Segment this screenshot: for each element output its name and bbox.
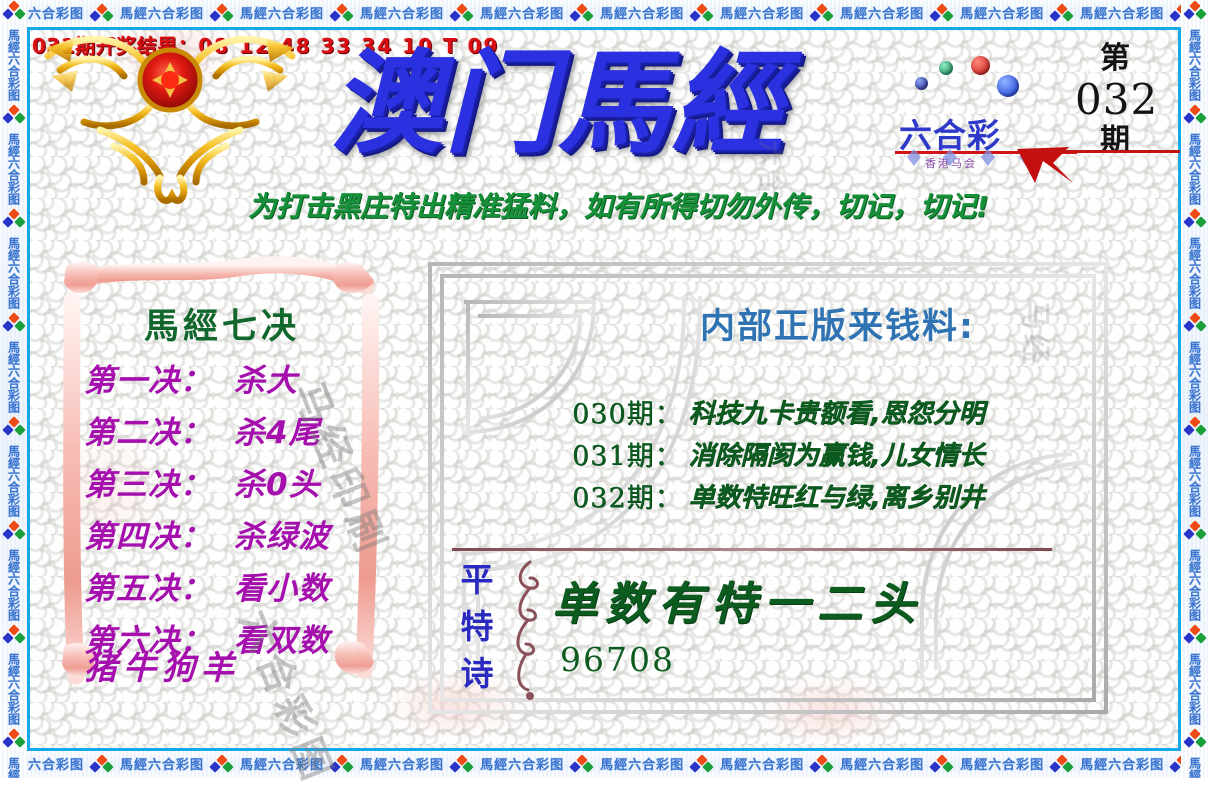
left-panel-row: 第四决：杀绿波: [84, 508, 374, 558]
border-repeat-text: 馬經六合彩图: [8, 341, 20, 413]
diamond-ornament-icon: [1188, 2, 1202, 24]
border-repeat-text: 馬經六合彩图: [840, 8, 924, 21]
issue-block: 第 032 期: [1075, 42, 1155, 158]
lottery-logo: 六合彩 香港马会: [895, 55, 1080, 175]
issue-underline: [1030, 150, 1180, 153]
border-repeat-text: 馬經六合彩图: [360, 759, 444, 772]
border-bottom-run: 馬經六合彩图馬經六合彩图馬經六合彩图馬經六合彩图馬經六合彩图馬經六合彩图馬經六合…: [0, 759, 1208, 772]
poem-number: 96708: [560, 640, 860, 679]
diamond-ornament-icon: [931, 9, 953, 21]
border-right: 馬經六合彩图馬經六合彩图馬經六合彩图馬經六合彩图馬經六合彩图馬經六合彩图馬經六合…: [1181, 0, 1208, 778]
prediction-period: 032期：: [572, 476, 683, 515]
border-repeat-text: 馬經六合彩图: [480, 8, 564, 21]
swirl-ornament: [508, 558, 548, 703]
left-panel-row: 第二决：杀4尾: [84, 404, 374, 454]
border-repeat-text: 馬經六合彩图: [360, 8, 444, 21]
left-panel-row: 第三决：杀0头: [84, 456, 374, 506]
border-repeat-text: 馬經六合彩图: [1189, 757, 1201, 779]
left-panel-row-label: 第四决：: [84, 511, 234, 556]
diamond-ornament-icon: [7, 2, 21, 24]
border-repeat-text: 馬經六合彩图: [1189, 341, 1201, 413]
prediction-period: 031期：: [572, 434, 683, 473]
prediction-row: 031期：消除隔阂为赢钱,儿女情长: [572, 432, 1132, 474]
diamond-ornament-icon: [931, 760, 953, 772]
diamond-ornament-icon: [691, 9, 713, 21]
poem-divider: [452, 548, 1052, 551]
border-repeat-text: 馬經六合彩图: [1189, 445, 1201, 517]
border-repeat-text: 馬經六合彩图: [1189, 29, 1201, 101]
left-panel-title: 馬經七决: [92, 298, 352, 349]
border-repeat-text: 馬經六合彩图: [720, 759, 804, 772]
left-panel-row-value: 看小数: [234, 563, 330, 608]
border-left: 馬經六合彩图馬經六合彩图馬經六合彩图馬經六合彩图馬經六合彩图馬經六合彩图馬經六合…: [0, 0, 27, 778]
border-right-run: 馬經六合彩图馬經六合彩图馬經六合彩图馬經六合彩图馬經六合彩图馬經六合彩图馬經六合…: [1181, 0, 1208, 778]
right-panel-title: 内部正版来钱料:: [700, 298, 1080, 349]
page-title: 澳门馬經: [330, 44, 910, 164]
border-repeat-text: 馬經六合彩图: [1080, 8, 1164, 21]
poem-line: 单数有特一二头: [552, 568, 1072, 630]
left-panel-row-label: 第一决：: [84, 355, 234, 400]
left-panel-row: 第五决：看小数: [84, 560, 374, 610]
border-repeat-text: 馬經六合彩图: [1189, 653, 1201, 725]
diamond-ornament-icon: [571, 9, 593, 21]
border-repeat-text: 馬經六合彩图: [960, 8, 1044, 21]
left-panel-row-label: 第三决：: [84, 459, 234, 504]
slogan: 为打击黑庄特出精准猛料，如有所得切勿外传，切记，切记!: [248, 185, 968, 225]
diamond-ornament-icon: [91, 760, 113, 772]
diamond-ornament-icon: [691, 760, 713, 772]
poster-root: 馬經六合彩图馬經六合彩图馬經六合彩图馬經六合彩图馬經六合彩图馬經六合彩图馬經六合…: [0, 0, 1208, 778]
diamond-ornament-icon: [1051, 760, 1073, 772]
border-repeat-text: 馬經六合彩图: [840, 759, 924, 772]
border-bottom: 馬經六合彩图馬經六合彩图馬經六合彩图馬經六合彩图馬經六合彩图馬經六合彩图馬經六合…: [0, 751, 1208, 778]
border-repeat-text: 馬經六合彩图: [960, 759, 1044, 772]
border-repeat-text: 馬經六合彩图: [1189, 237, 1201, 309]
left-panel-row-value: 杀绿波: [234, 511, 330, 556]
dragon-ornament: [40, 18, 300, 208]
left-panel-row-label: 第五决：: [84, 563, 234, 608]
border-repeat-text: 馬經六合彩图: [1080, 759, 1164, 772]
diamond-ornament-icon: [331, 760, 353, 772]
diamond-ornament-icon: [7, 314, 21, 336]
prediction-text: 消除隔阂为赢钱,儿女情长: [689, 435, 985, 472]
border-repeat-text: 馬經六合彩图: [1189, 549, 1201, 621]
border-left-run: 馬經六合彩图馬經六合彩图馬經六合彩图馬經六合彩图馬經六合彩图馬經六合彩图馬經六合…: [0, 0, 27, 778]
left-panel-row-label: 第二决：: [84, 407, 234, 452]
prediction-row: 032期：单数特旺红与绿,离乡别井: [572, 474, 1132, 516]
left-panel-row: 第一决：杀大: [84, 352, 374, 402]
diamond-ornament-icon: [811, 760, 833, 772]
diamond-ornament-icon: [7, 522, 21, 544]
ball-green: [939, 61, 953, 75]
border-repeat-text: 馬經六合彩图: [480, 759, 564, 772]
issue-label-top: 第: [1075, 42, 1155, 76]
border-repeat-text: 馬經六合彩图: [8, 445, 20, 517]
diamond-ornament-icon: [811, 9, 833, 21]
diamond-ornament-icon: [7, 210, 21, 232]
border-repeat-text: 馬經六合彩图: [8, 549, 20, 621]
ball-navy: [915, 77, 928, 90]
diamond-ornament-icon: [1188, 314, 1202, 336]
border-repeat-text: 馬經六合彩图: [8, 133, 20, 205]
diamond-ornament-icon: [331, 9, 353, 21]
diamond-ornament-icon: [1188, 418, 1202, 440]
diamond-ornament-icon: [7, 626, 21, 648]
border-repeat-text: 馬經六合彩图: [720, 8, 804, 21]
border-repeat-text: 馬經六合彩图: [1189, 133, 1201, 205]
diamond-ornament-icon: [1188, 626, 1202, 648]
diamond-ornament-icon: [7, 418, 21, 440]
prediction-row: 030期：科技九卡贵额看,恩怨分明: [572, 390, 1132, 432]
ball-red: [971, 56, 990, 75]
border-repeat-text: 馬經六合彩图: [600, 759, 684, 772]
poem-label-char: 平: [455, 556, 499, 603]
left-panel-row-value: 杀0头: [234, 459, 321, 504]
border-repeat-text: 馬經六合彩图: [8, 29, 20, 101]
issue-number: 032: [1075, 76, 1155, 124]
zodiac-line: 猪牛狗羊: [84, 640, 384, 690]
poem-label: 平特诗: [455, 556, 499, 697]
border-repeat-text: 馬經六合彩图: [8, 757, 20, 779]
diamond-ornament-icon: [571, 760, 593, 772]
diamond-ornament-icon: [7, 730, 21, 752]
poem-label-char: 特: [455, 603, 499, 650]
diamond-ornament-icon: [451, 9, 473, 21]
diamond-ornament-icon: [1188, 106, 1202, 128]
diamond-ornament-icon: [1188, 522, 1202, 544]
diamond-ornament-icon: [451, 760, 473, 772]
diamond-ornament-icon: [1188, 730, 1202, 752]
border-repeat-text: 馬經六合彩图: [8, 237, 20, 309]
left-panel-row-value: 杀大: [234, 355, 298, 400]
border-repeat-text: 馬經六合彩图: [120, 759, 204, 772]
prediction-text: 科技九卡贵额看,恩怨分明: [689, 393, 985, 430]
left-panel-row-value: 杀4尾: [234, 407, 321, 452]
poem-label-char: 诗: [455, 650, 499, 697]
prediction-text: 单数特旺红与绿,离乡别井: [689, 477, 985, 514]
border-repeat-text: 馬經六合彩图: [600, 8, 684, 21]
prediction-period: 030期：: [572, 392, 683, 431]
diamond-ornament-icon: [1051, 9, 1073, 21]
border-repeat-text: 馬經六合彩图: [240, 759, 324, 772]
diamond-ornament-icon: [211, 760, 233, 772]
border-repeat-text: 馬經六合彩图: [8, 653, 20, 725]
ball-blue: [997, 75, 1019, 97]
diamond-ornament-icon: [1188, 210, 1202, 232]
diamond-ornament-icon: [7, 106, 21, 128]
